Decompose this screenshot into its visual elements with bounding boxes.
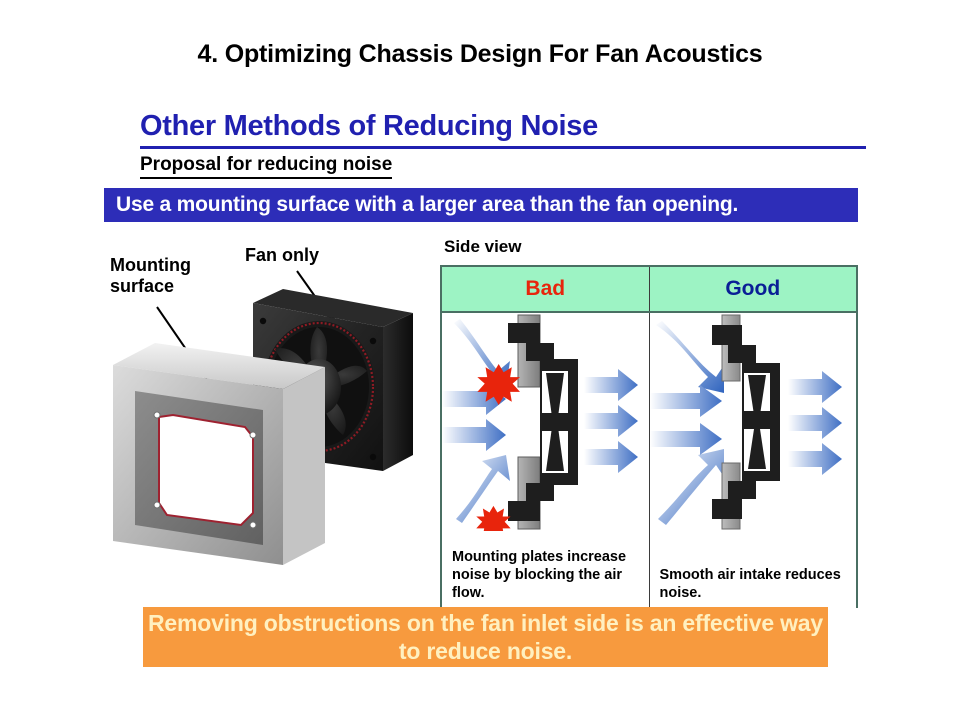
table-body-row: Mounting plates increase noise by blocki… [442,313,856,610]
caption-bad: Mounting plates increase noise by blocki… [452,548,643,602]
outlet-arrows [584,369,638,473]
good-airflow-svg [650,313,858,531]
orange-banner-text: Removing obstructions on the fan inlet s… [143,609,828,665]
sub-heading: Proposal for reducing noise [140,154,392,179]
section-heading: Other Methods of Reducing Noise [140,110,598,143]
blue-banner-text: Use a mounting surface with a larger are… [116,193,738,217]
table-header-good: Good [650,267,857,311]
table-cell-bad: Mounting plates increase noise by blocki… [442,313,650,610]
bad-good-comparison-table: Bad Good [440,265,858,608]
caption-good: Smooth air intake reduces noise. [660,566,851,602]
table-cell-good: Smooth air intake reduces noise. [650,313,857,610]
table-header-row: Bad Good [442,267,856,313]
label-fan-only: Fan only [245,245,319,266]
slide-content-board: Other Methods of Reducing Noise Proposal… [0,95,960,695]
outlet-arrows [788,371,842,475]
mounting-plate-3d [113,343,325,565]
exploded-fan-assembly-svg [95,245,435,665]
fan-mounting-illustration: Mounting surface Fan only [95,245,435,665]
good-airflow-figure [650,313,857,531]
page-title: 4. Optimizing Chassis Design For Fan Aco… [0,40,960,69]
straight-inlet-arrows [650,385,722,455]
bad-airflow-figure [442,313,649,531]
blue-statement-banner: Use a mounting surface with a larger are… [104,188,858,222]
side-view-label: Side view [444,237,521,257]
orange-conclusion-banner: Removing obstructions on the fan inlet s… [143,607,828,667]
label-mounting-surface: Mounting surface [110,255,220,296]
heading-divider-rule [140,146,866,149]
bad-airflow-svg [442,313,650,531]
table-header-bad: Bad [442,267,650,311]
